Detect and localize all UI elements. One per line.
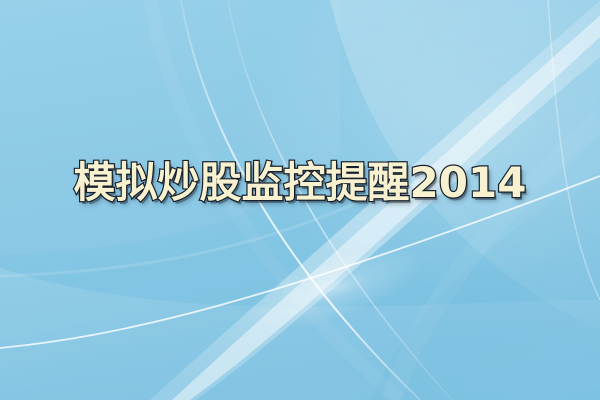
- banner-canvas: 模拟炒股监控提醒2014: [0, 0, 600, 400]
- page-title: 模拟炒股监控提醒2014: [74, 162, 527, 204]
- title-layer: 模拟炒股监控提醒2014: [0, 0, 600, 400]
